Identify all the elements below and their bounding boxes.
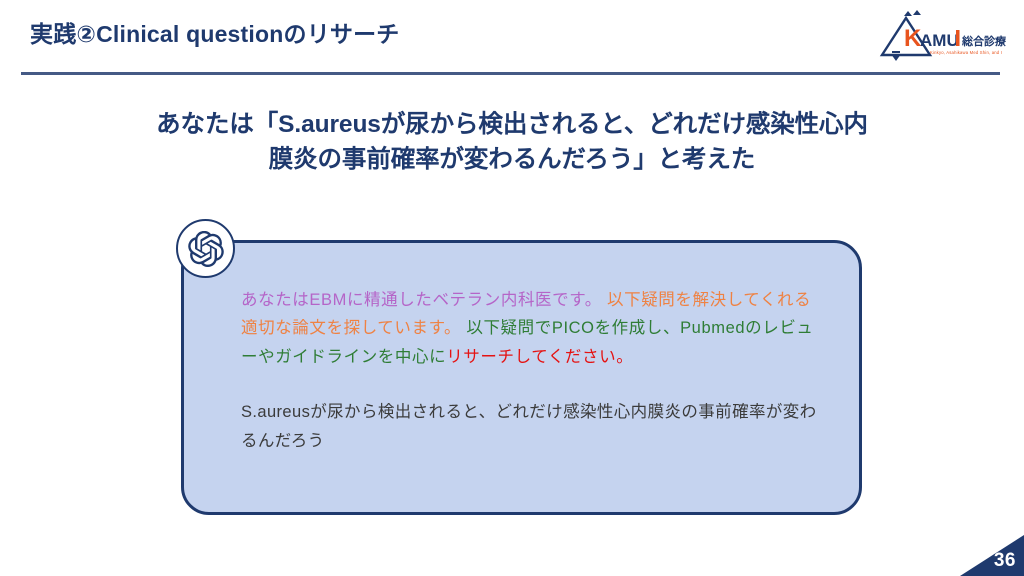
avatar bbox=[176, 219, 235, 278]
prompt-text: あなたはEBMに精通したベテラン内科医です。 以下疑問を解決してくれる適切な論文… bbox=[241, 286, 819, 371]
svg-text:Kinkyo, Asahikawa Med Shin, an: Kinkyo, Asahikawa Med Shin, and I bbox=[930, 50, 1002, 55]
paragraph-spacer bbox=[241, 371, 819, 398]
question-heading: あなたは「S.aureusが尿から検出されると、どれだけ感染性心内 膜炎の事前確… bbox=[112, 108, 912, 178]
page-number-corner: 36 bbox=[960, 535, 1024, 576]
openai-logo-icon bbox=[188, 231, 224, 267]
question-line-1: あなたは「S.aureusが尿から検出されると、どれだけ感染性心内 bbox=[112, 108, 912, 143]
prompt-segment-action: リサーチしてください。 bbox=[446, 348, 633, 366]
slide: 実践②Clinical questionのリサーチ K AMU 総合診療 Kin… bbox=[0, 0, 1024, 576]
svg-text:AMU: AMU bbox=[920, 31, 959, 50]
chat-bubble-body: あなたはEBMに精通したベテラン内科医です。 以下疑問を解決してくれる適切な論文… bbox=[241, 286, 819, 456]
chat-bubble: あなたはEBMに精通したベテラン内科医です。 以下疑問を解決してくれる適切な論文… bbox=[181, 240, 862, 515]
prompt-segment-role: あなたはEBMに精通したベテラン内科医です。 bbox=[241, 291, 602, 309]
title-divider bbox=[21, 72, 1000, 75]
page-number: 36 bbox=[994, 550, 1016, 572]
question-line-2: 膜炎の事前確率が変わるんだろう」と考えた bbox=[112, 143, 912, 178]
user-question-text: S.aureusが尿から検出されると、どれだけ感染性心内膜炎の事前確率が変わるん… bbox=[241, 398, 819, 455]
kamui-logo: K AMU 総合診療 Kinkyo, Asahikawa Med Shin, a… bbox=[868, 5, 1008, 65]
page-title: 実践②Clinical questionのリサーチ bbox=[30, 20, 730, 49]
svg-text:総合診療: 総合診療 bbox=[961, 34, 1007, 48]
